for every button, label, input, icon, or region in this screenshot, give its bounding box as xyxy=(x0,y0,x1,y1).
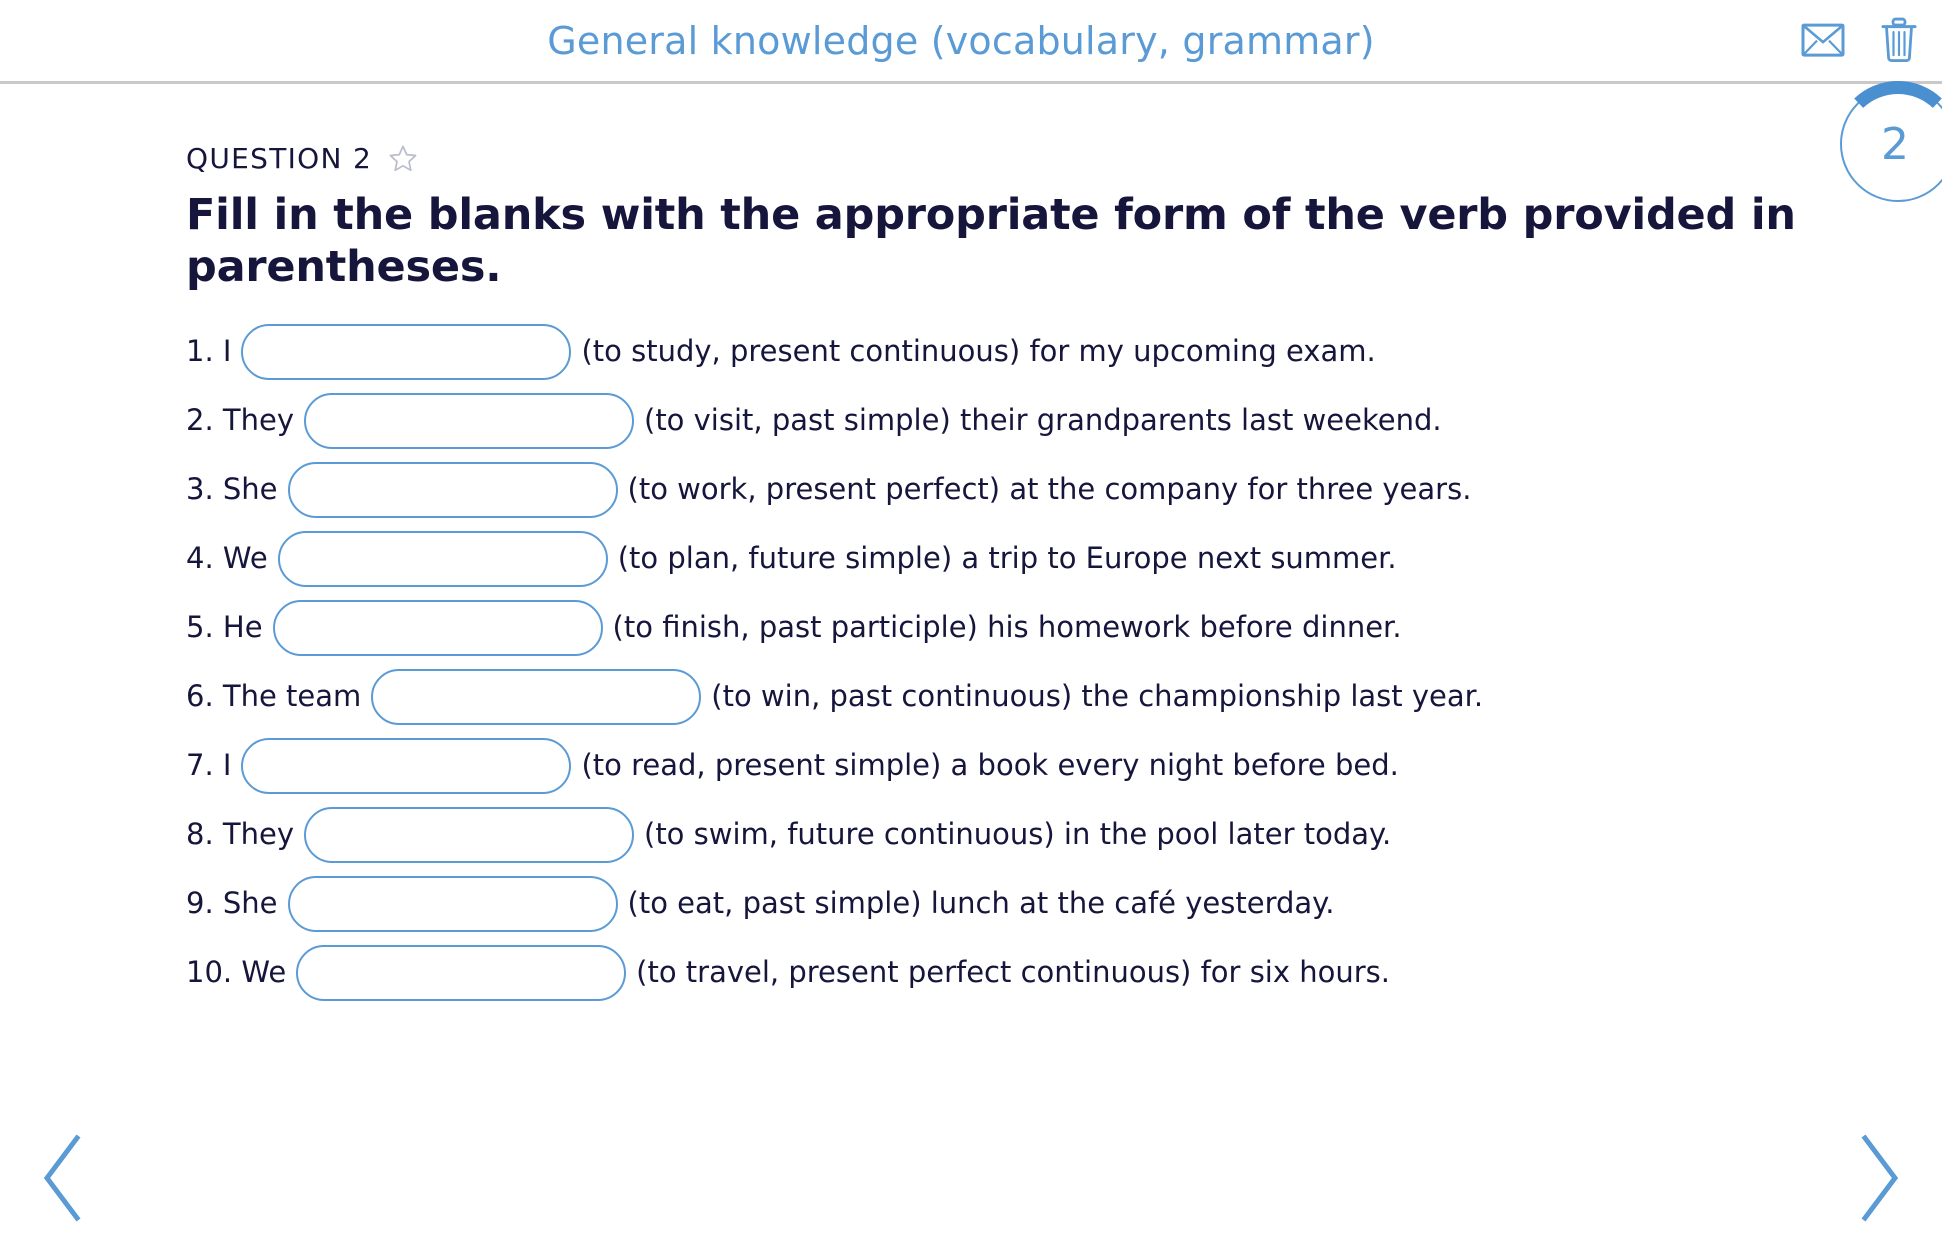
item-lead-text: 4. We xyxy=(186,544,278,573)
item-tail-text: (to win, past continuous) the championsh… xyxy=(701,682,1483,711)
header-actions xyxy=(1800,17,1922,63)
item-tail-text: (to read, present simple) a book every n… xyxy=(571,751,1398,780)
blank-input-8[interactable] xyxy=(304,807,634,863)
trash-icon[interactable] xyxy=(1876,17,1922,63)
chevron-left-icon xyxy=(37,1132,89,1228)
item-tail-text: (to visit, past simple) their grandparen… xyxy=(634,406,1442,435)
item-tail-text: (to travel, present perfect continuous) … xyxy=(626,958,1390,987)
blank-input-6[interactable] xyxy=(371,669,701,725)
question-label-row: QUESTION 2 xyxy=(186,142,1942,175)
next-question-button[interactable] xyxy=(1834,1126,1924,1234)
blank-input-10[interactable] xyxy=(296,945,626,1001)
list-item: 4. We (to plan, future simple) a trip to… xyxy=(186,531,1942,587)
exercise-page: General knowledge (vocabulary, grammar) xyxy=(0,0,1942,1256)
item-lead-text: 8. They xyxy=(186,820,304,849)
blank-input-9[interactable] xyxy=(288,876,618,932)
list-item: 3. She (to work, present perfect) at the… xyxy=(186,462,1942,518)
item-lead-text: 5. He xyxy=(186,613,273,642)
blank-input-2[interactable] xyxy=(304,393,634,449)
item-lead-text: 1. I xyxy=(186,337,241,366)
blank-input-3[interactable] xyxy=(288,462,618,518)
blank-items-list: 1. I (to study, present continuous) for … xyxy=(186,324,1942,1001)
list-item: 6. The team (to win, past continuous) th… xyxy=(186,669,1942,725)
item-lead-text: 3. She xyxy=(186,475,288,504)
list-item: 2. They (to visit, past simple) their gr… xyxy=(186,393,1942,449)
item-tail-text: (to swim, future continuous) in the pool… xyxy=(634,820,1391,849)
item-tail-text: (to study, present continuous) for my up… xyxy=(571,337,1375,366)
blank-input-5[interactable] xyxy=(273,600,603,656)
blank-input-4[interactable] xyxy=(278,531,608,587)
item-lead-text: 10. We xyxy=(186,958,296,987)
list-item: 9. She (to eat, past simple) lunch at th… xyxy=(186,876,1942,932)
previous-question-button[interactable] xyxy=(18,1126,108,1234)
chevron-right-icon xyxy=(1853,1132,1905,1228)
item-lead-text: 6. The team xyxy=(186,682,371,711)
question-prompt: Fill in the blanks with the appropriate … xyxy=(186,189,1796,294)
list-item: 7. I (to read, present simple) a book ev… xyxy=(186,738,1942,794)
blank-input-1[interactable] xyxy=(241,324,571,380)
app-header: General knowledge (vocabulary, grammar) xyxy=(0,0,1942,84)
item-tail-text: (to finish, past participle) his homewor… xyxy=(603,613,1402,642)
question-label: QUESTION 2 xyxy=(186,142,372,175)
envelope-icon[interactable] xyxy=(1800,17,1846,63)
item-lead-text: 7. I xyxy=(186,751,241,780)
page-title: General knowledge (vocabulary, grammar) xyxy=(547,19,1375,63)
star-outline-icon[interactable] xyxy=(388,144,418,174)
item-tail-text: (to plan, future simple) a trip to Europ… xyxy=(608,544,1397,573)
item-lead-text: 2. They xyxy=(186,406,304,435)
list-item: 8. They (to swim, future continuous) in … xyxy=(186,807,1942,863)
question-content: QUESTION 2 Fill in the blanks with the a… xyxy=(0,84,1942,1001)
item-tail-text: (to work, present perfect) at the compan… xyxy=(618,475,1472,504)
blank-input-7[interactable] xyxy=(241,738,571,794)
list-item: 1. I (to study, present continuous) for … xyxy=(186,324,1942,380)
item-tail-text: (to eat, past simple) lunch at the café … xyxy=(618,889,1335,918)
item-lead-text: 9. She xyxy=(186,889,288,918)
list-item: 10. We (to travel, present perfect conti… xyxy=(186,945,1942,1001)
list-item: 5. He (to finish, past participle) his h… xyxy=(186,600,1942,656)
